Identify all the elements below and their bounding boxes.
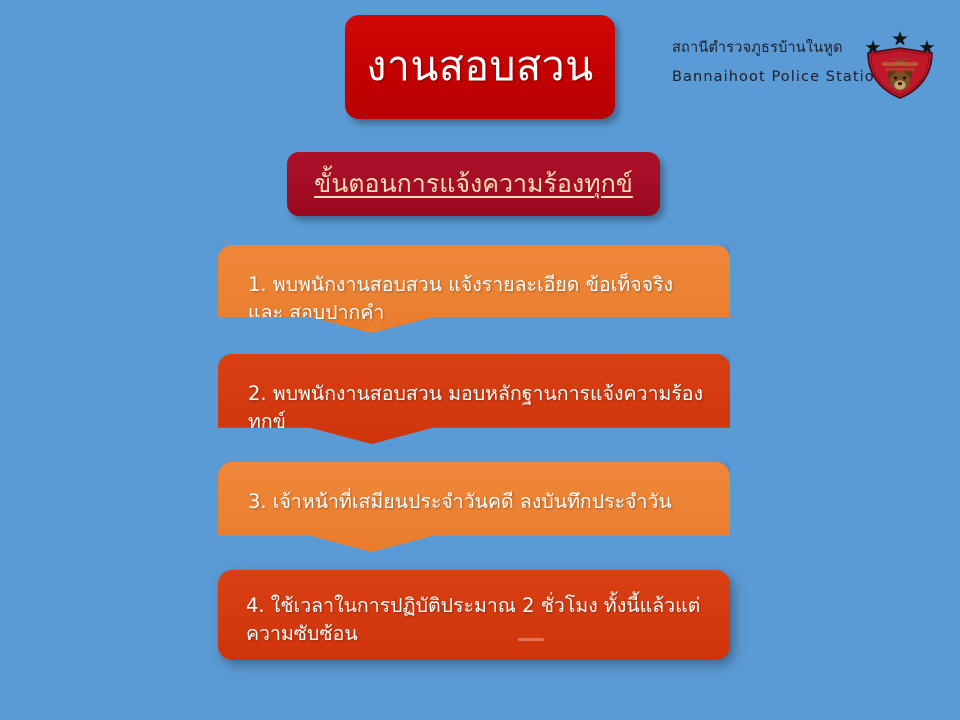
subtitle-banner: ขั้นตอนการแจ้งความร้องทุกข์ [287, 152, 660, 216]
police-shield-badge-icon [862, 12, 938, 100]
flow-step-2: 2. พบพนักงานสอบสวน มอบหลักฐานการแจ้งความ… [218, 354, 730, 444]
title-banner: งานสอบสวน [345, 15, 615, 119]
flow-step-4: 4. ใช้เวลาในการปฏิบัติประมาณ 2 ชั่วโมง ท… [218, 570, 730, 660]
slide-canvas: สถานีตำรวจภูธรบ้านในหูด Bannaihoot Polic… [0, 0, 960, 720]
flow-step-3-label: 3. เจ้าหน้าที่เสมียนประจำวันคดี ลงบันทึก… [240, 488, 708, 516]
flow-step-4-trailing-mark [518, 638, 544, 641]
page-subtitle: ขั้นตอนการแจ้งความร้องทุกข์ [314, 170, 633, 198]
flow-step-2-label: 2. พบพนักงานสอบสวน มอบหลักฐานการแจ้งความ… [240, 380, 708, 435]
page-title: งานสอบสวน [366, 45, 593, 88]
flow-step-1-label: 1. พบพนักงานสอบสวน แจ้งรายละเอียด ข้อเท็… [240, 271, 708, 326]
flow-step-4-label: 4. ใช้เวลาในการปฏิบัติประมาณ 2 ชั่วโมง ท… [240, 592, 708, 647]
flow-step-3: 3. เจ้าหน้าที่เสมียนประจำวันคดี ลงบันทึก… [218, 462, 730, 552]
station-name-english: Bannaihoot Police Station [672, 69, 885, 85]
flow-step-1: 1. พบพนักงานสอบสวน แจ้งรายละเอียด ข้อเท็… [218, 245, 730, 333]
station-name-thai: สถานีตำรวจภูธรบ้านในหูด [672, 36, 843, 59]
